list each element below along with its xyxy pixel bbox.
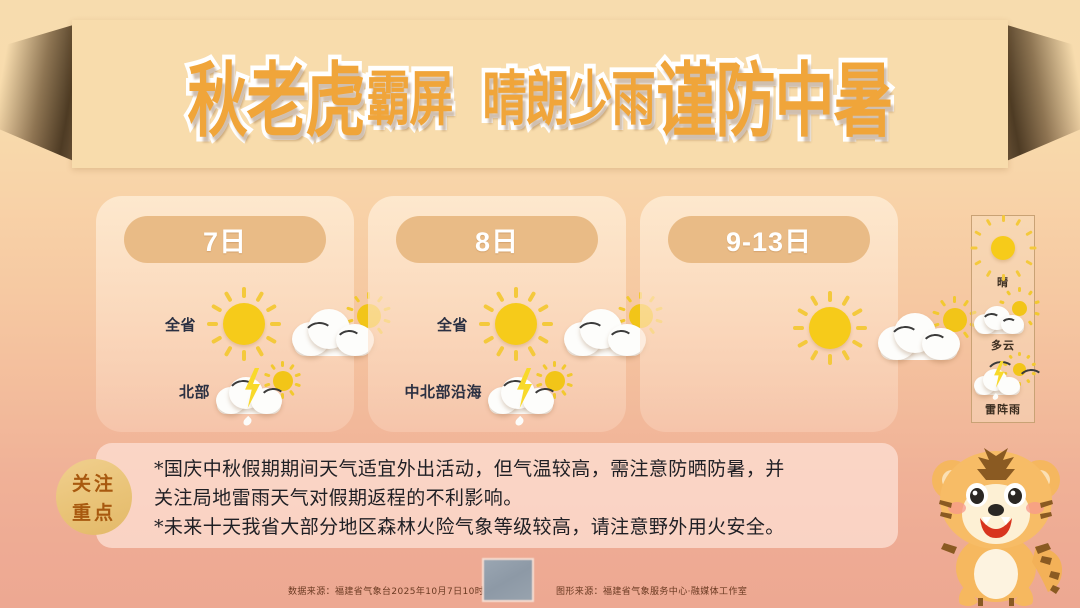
partly-cloudy-icon [972,292,1034,336]
sun-ray [1034,301,1040,305]
sun-ray [560,390,566,397]
cloud-shape [878,314,960,360]
weather-legend: 晴多云雷阵雨 [971,215,1035,423]
footer-data-source: 数据来源：福建省气象台2025年10月7日10时预报 [288,584,503,597]
sun-ray [566,383,573,388]
sun-ray [856,326,867,330]
sun-ray [1018,287,1021,292]
sun-ray [211,304,223,313]
sun-ray [224,346,233,358]
sun-ray [962,300,969,307]
sun-ray [281,361,284,367]
weather-icon-group [788,286,978,370]
header-ribbon: 秋老虎霸屏晴朗少雨谨防中暑 [0,20,1080,168]
legend-label: 多云 [991,337,1015,353]
forecast-row-primary [692,286,978,370]
forecast-card-8日[interactable]: 8日全省中北部沿海 [368,196,626,432]
sun-ray [255,346,264,358]
sun-ray [553,361,556,367]
sun-ray [483,304,495,313]
sun-ray [270,322,281,326]
legend-label: 雷阵雨 [985,401,1021,417]
forecast-card-7日[interactable]: 7日全省北部 [96,196,354,432]
sun-ray [810,295,819,307]
sun-ray [496,346,505,358]
partly-cloudy-icon [876,292,978,364]
notice-badge: 关注 重点 [56,459,132,535]
raindrop-icon [242,416,253,427]
sunny-icon [788,286,872,370]
sun-ray [1002,215,1005,222]
sun-ray [242,287,246,298]
legend-item-partly-cloudy-icon: 多云 [972,292,1034,353]
sun-ray [1018,352,1021,356]
ribbon-body: 秋老虎霸屏晴朗少雨谨防中暑 [72,20,1008,168]
sun-ray [939,300,946,307]
sun-ray [255,291,264,303]
sunny-icon [202,282,286,366]
forecast-row-secondary: 中北部沿海 [378,360,574,422]
qr-code-placeholder [482,558,534,602]
forecast-card-list: 7日全省北部8日全省中北部沿海9-13日 [96,196,898,432]
notice-body-text: *国庆中秋假期期间天气适宜外出活动，但气温较高，需注意防晒防暑，并关注局地雷雨天… [154,455,880,542]
sun-ray [566,373,573,378]
notice-badge-line2: 重点 [72,498,116,525]
region-label: 全省 [106,314,202,335]
sun-ray [999,301,1005,305]
sun-ray [560,364,566,371]
notice-line-1: 关注局地雷雨天气对假期返程的不利影响。 [154,484,880,513]
sun-ray [542,322,553,326]
card-date-label: 9-13日 [726,220,812,259]
sun-ray [288,364,294,371]
sun-ray [841,295,850,307]
sun-ray [985,270,991,278]
sun-ray [852,339,864,348]
sun-ray [985,219,991,227]
sun-ray [953,296,956,303]
cloud-shape [564,310,646,356]
sun-ray [970,247,977,250]
cloud-shape [292,310,374,356]
sun-ray [1015,219,1021,227]
forecast-row-primary: 全省 [378,282,664,366]
sun-ray [1029,247,1036,250]
title-segment-0: 秋老虎 [188,35,365,152]
weather-icon-group [474,282,664,366]
weather-icon-group [202,282,392,366]
footer: 数据来源：福建省气象台2025年10月7日10时预报 图形来源：福建省气象服务中… [0,574,1080,608]
sun-ray [211,335,223,344]
card-date-pill: 8日 [396,216,598,263]
title-segment-3: 谨防中暑 [657,35,893,152]
card-date-pill: 7日 [124,216,326,263]
sun-ray [797,308,809,317]
weather-icon-group [216,360,302,422]
thunderstorm-icon [488,360,574,422]
notice-panel: 关注 重点 *国庆中秋假期期间天气适宜外出活动，但气温较高，需注意防晒防暑，并关… [96,443,898,548]
forecast-card-9-13日[interactable]: 9-13日 [640,196,898,432]
sun-ray [828,291,832,302]
sun-ray [496,291,505,303]
sun-ray [288,390,294,397]
sunny-icon [474,282,558,366]
title-segment-2: 晴朗少雨 [483,51,655,137]
notice-badge-line1: 关注 [72,469,116,496]
legend-item-sunny-icon: 晴 [978,223,1028,290]
sun-ray [793,326,804,330]
forecast-row-secondary: 北部 [106,360,302,422]
sun-ray [542,364,548,371]
sun-ray [962,331,969,338]
card-date-pill: 9-13日 [668,216,870,263]
sun-ray [514,287,518,298]
sun-ray [625,296,632,303]
sun-ray [1027,291,1032,297]
sun-ray [1015,270,1021,278]
region-label: 北部 [106,381,216,402]
thunderstorm-icon [216,360,302,422]
forecast-row-primary: 全省 [106,282,392,366]
sun-ray [483,335,495,344]
legend-item-thunderstorm-icon: 雷阵雨 [974,356,1032,417]
sun-ray [353,296,360,303]
sun-ray [1034,312,1040,316]
sun-ray [1005,291,1010,297]
sun-ray [1025,260,1033,266]
sun-ray [527,291,536,303]
sun-ray [852,308,864,317]
notice-line-0: *国庆中秋假期期间天气适宜外出活动，但气温较高，需注意防晒防暑，并 [154,455,880,484]
raindrop-icon [514,416,525,427]
weather-infographic-poster: 秋老虎霸屏晴朗少雨谨防中暑 7日全省北部8日全省中北部沿海9-13日 晴多云雷阵… [0,0,1080,608]
sun-ray [974,230,982,236]
sun-ray [1008,354,1013,359]
sun-ray [1025,230,1033,236]
sun-ray [266,335,278,344]
sun-ray [1027,321,1032,327]
sunny-icon [978,223,1028,273]
sun-ray [527,346,536,358]
card-date-label: 8日 [475,220,519,259]
sun-ray [810,350,819,362]
sun-ray [294,383,301,388]
sun-ray [1002,274,1005,281]
sun-ray [1031,362,1036,366]
sun-ray [797,339,809,348]
sun-ray [1025,354,1030,359]
sun-ray [207,322,218,326]
region-label: 全省 [378,314,474,335]
sun-ray [294,373,301,378]
footer-graphic-source: 图形来源：福建省气象服务中心·融媒体工作室 [556,584,747,597]
page-title: 秋老虎霸屏晴朗少雨谨防中暑 [72,20,1008,168]
title-segment-1: 霸屏 [367,51,453,137]
sun-ray [841,350,850,362]
sun-ray [974,260,982,266]
sun-ray [538,304,550,313]
sun-ray [266,304,278,313]
sun-ray [828,354,832,365]
sun-ray [270,364,276,371]
card-date-label: 7日 [203,220,247,259]
sun-ray [538,335,550,344]
weather-icon-group [488,360,574,422]
sun-ray [224,291,233,303]
thunderstorm-icon [974,356,1032,400]
region-label: 中北部沿海 [378,381,488,402]
cloud-shape [974,306,1024,334]
notice-line-2: *未来十天我省大部分地区森林火险气象等级较高，请注意野外用火安全。 [154,513,880,542]
sun-ray [479,322,490,326]
